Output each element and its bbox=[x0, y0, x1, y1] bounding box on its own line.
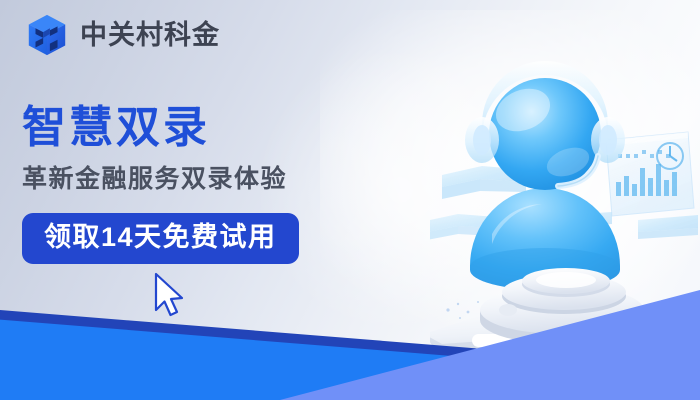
cube-logo-icon bbox=[24, 12, 70, 58]
promo-banner: 中关村科金 智慧双录 革新金融服务双录体验 领取14天免费试用 bbox=[0, 0, 700, 400]
mouse-cursor-icon bbox=[152, 272, 186, 320]
page-title: 智慧双录 bbox=[22, 104, 422, 152]
floating-glass-bar-right bbox=[638, 215, 698, 239]
hero-copy: 智慧双录 革新金融服务双录体验 领取14天免费试用 bbox=[22, 104, 422, 264]
sparkle-dots bbox=[446, 301, 479, 319]
free-trial-cta-button[interactable]: 领取14天免费试用 bbox=[22, 213, 299, 264]
brand-name: 中关村科金 bbox=[80, 22, 220, 49]
hero-subtitle: 革新金融服务双录体验 bbox=[22, 166, 422, 194]
brand-logo[interactable]: 中关村科金 bbox=[24, 12, 220, 58]
